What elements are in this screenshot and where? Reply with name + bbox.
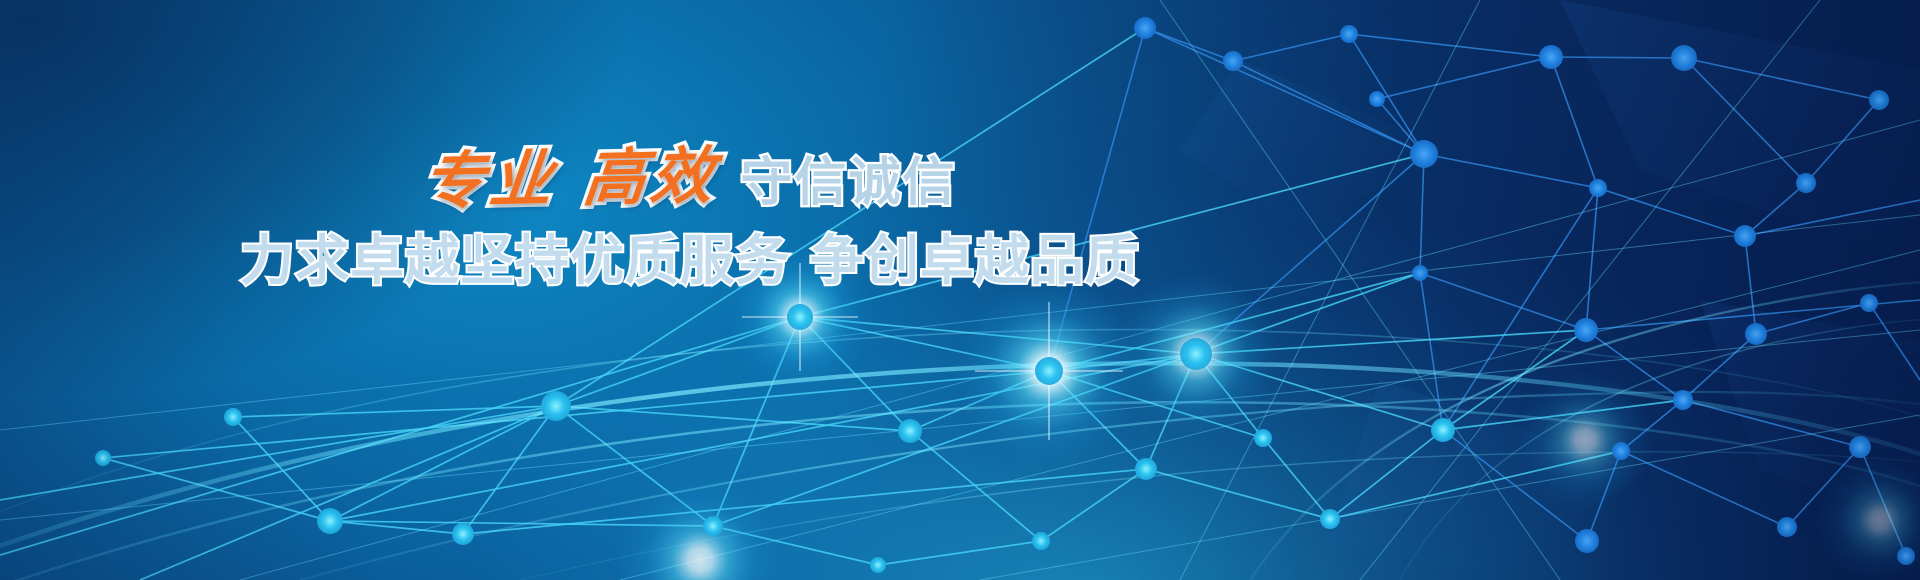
hero-banner: 专业 高效 守信诚信 力求卓越坚持优质服务 争创卓越品质 [0,0,1920,580]
background-vignette [0,0,1920,580]
